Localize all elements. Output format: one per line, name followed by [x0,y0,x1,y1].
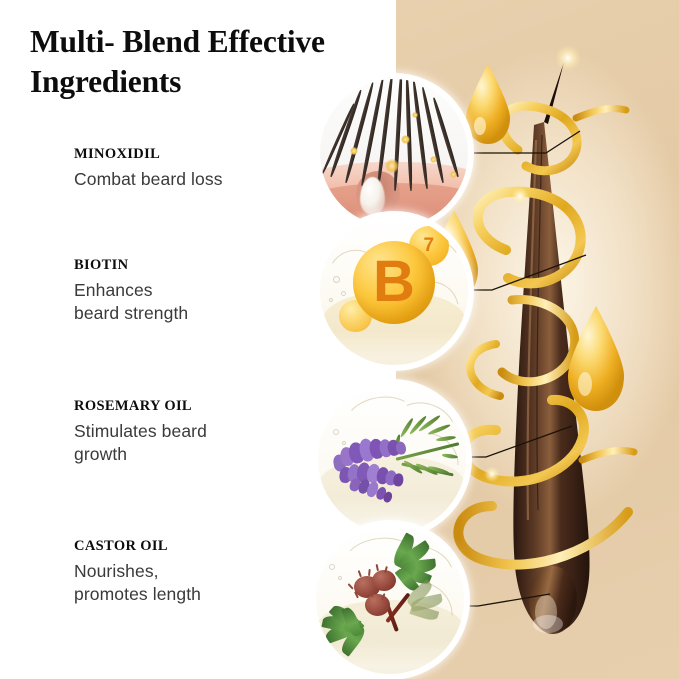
ingredient-desc-rosemary-oil-line-2: growth [74,443,324,466]
rosemary-lavender-image [318,385,466,533]
ingredient-desc-biotin-line-2: beard strength [74,302,324,325]
scalp-hair-follicles-image [320,79,468,227]
ingredient-name-biotin: BIOTIN [74,257,324,274]
castor-plant-image [316,526,464,674]
ingredient-block-biotin: BIOTIN Enhances beard strength [74,257,324,325]
ingredient-block-minoxidil: MINOXIDIL Combat beard loss [74,146,324,191]
biotin-b7-capsule-image: 7 B [320,217,468,365]
page-title-line-1: Multi- Blend Effective [30,22,400,62]
vitamin-sphere: B [353,241,436,324]
ingredient-block-rosemary-oil: ROSEMARY OIL Stimulates beard growth [74,398,324,466]
ingredient-block-castor-oil: CASTOR OIL Nourishes, promotes length [74,538,324,606]
ingredient-name-castor-oil: CASTOR OIL [74,538,324,555]
infographic-root: Multi- Blend Effective Ingredients MINOX… [0,0,679,679]
ingredient-desc-biotin: Enhances beard strength [74,279,324,325]
ingredient-desc-minoxidil: Combat beard loss [74,168,324,191]
ingredient-desc-biotin-line-1: Enhances [74,279,324,302]
ingredient-desc-minoxidil-line-1: Combat beard loss [74,168,324,191]
ingredient-name-rosemary-oil: ROSEMARY OIL [74,398,324,415]
ingredient-name-minoxidil: MINOXIDIL [74,146,324,163]
ingredient-desc-castor-oil: Nourishes, promotes length [74,560,324,606]
ingredient-desc-castor-oil-line-2: promotes length [74,583,324,606]
ingredient-desc-castor-oil-line-1: Nourishes, [74,560,324,583]
ingredient-desc-rosemary-oil-line-1: Stimulates beard [74,420,324,443]
ingredient-desc-rosemary-oil: Stimulates beard growth [74,420,324,466]
vitamin-letter: B [353,241,436,324]
